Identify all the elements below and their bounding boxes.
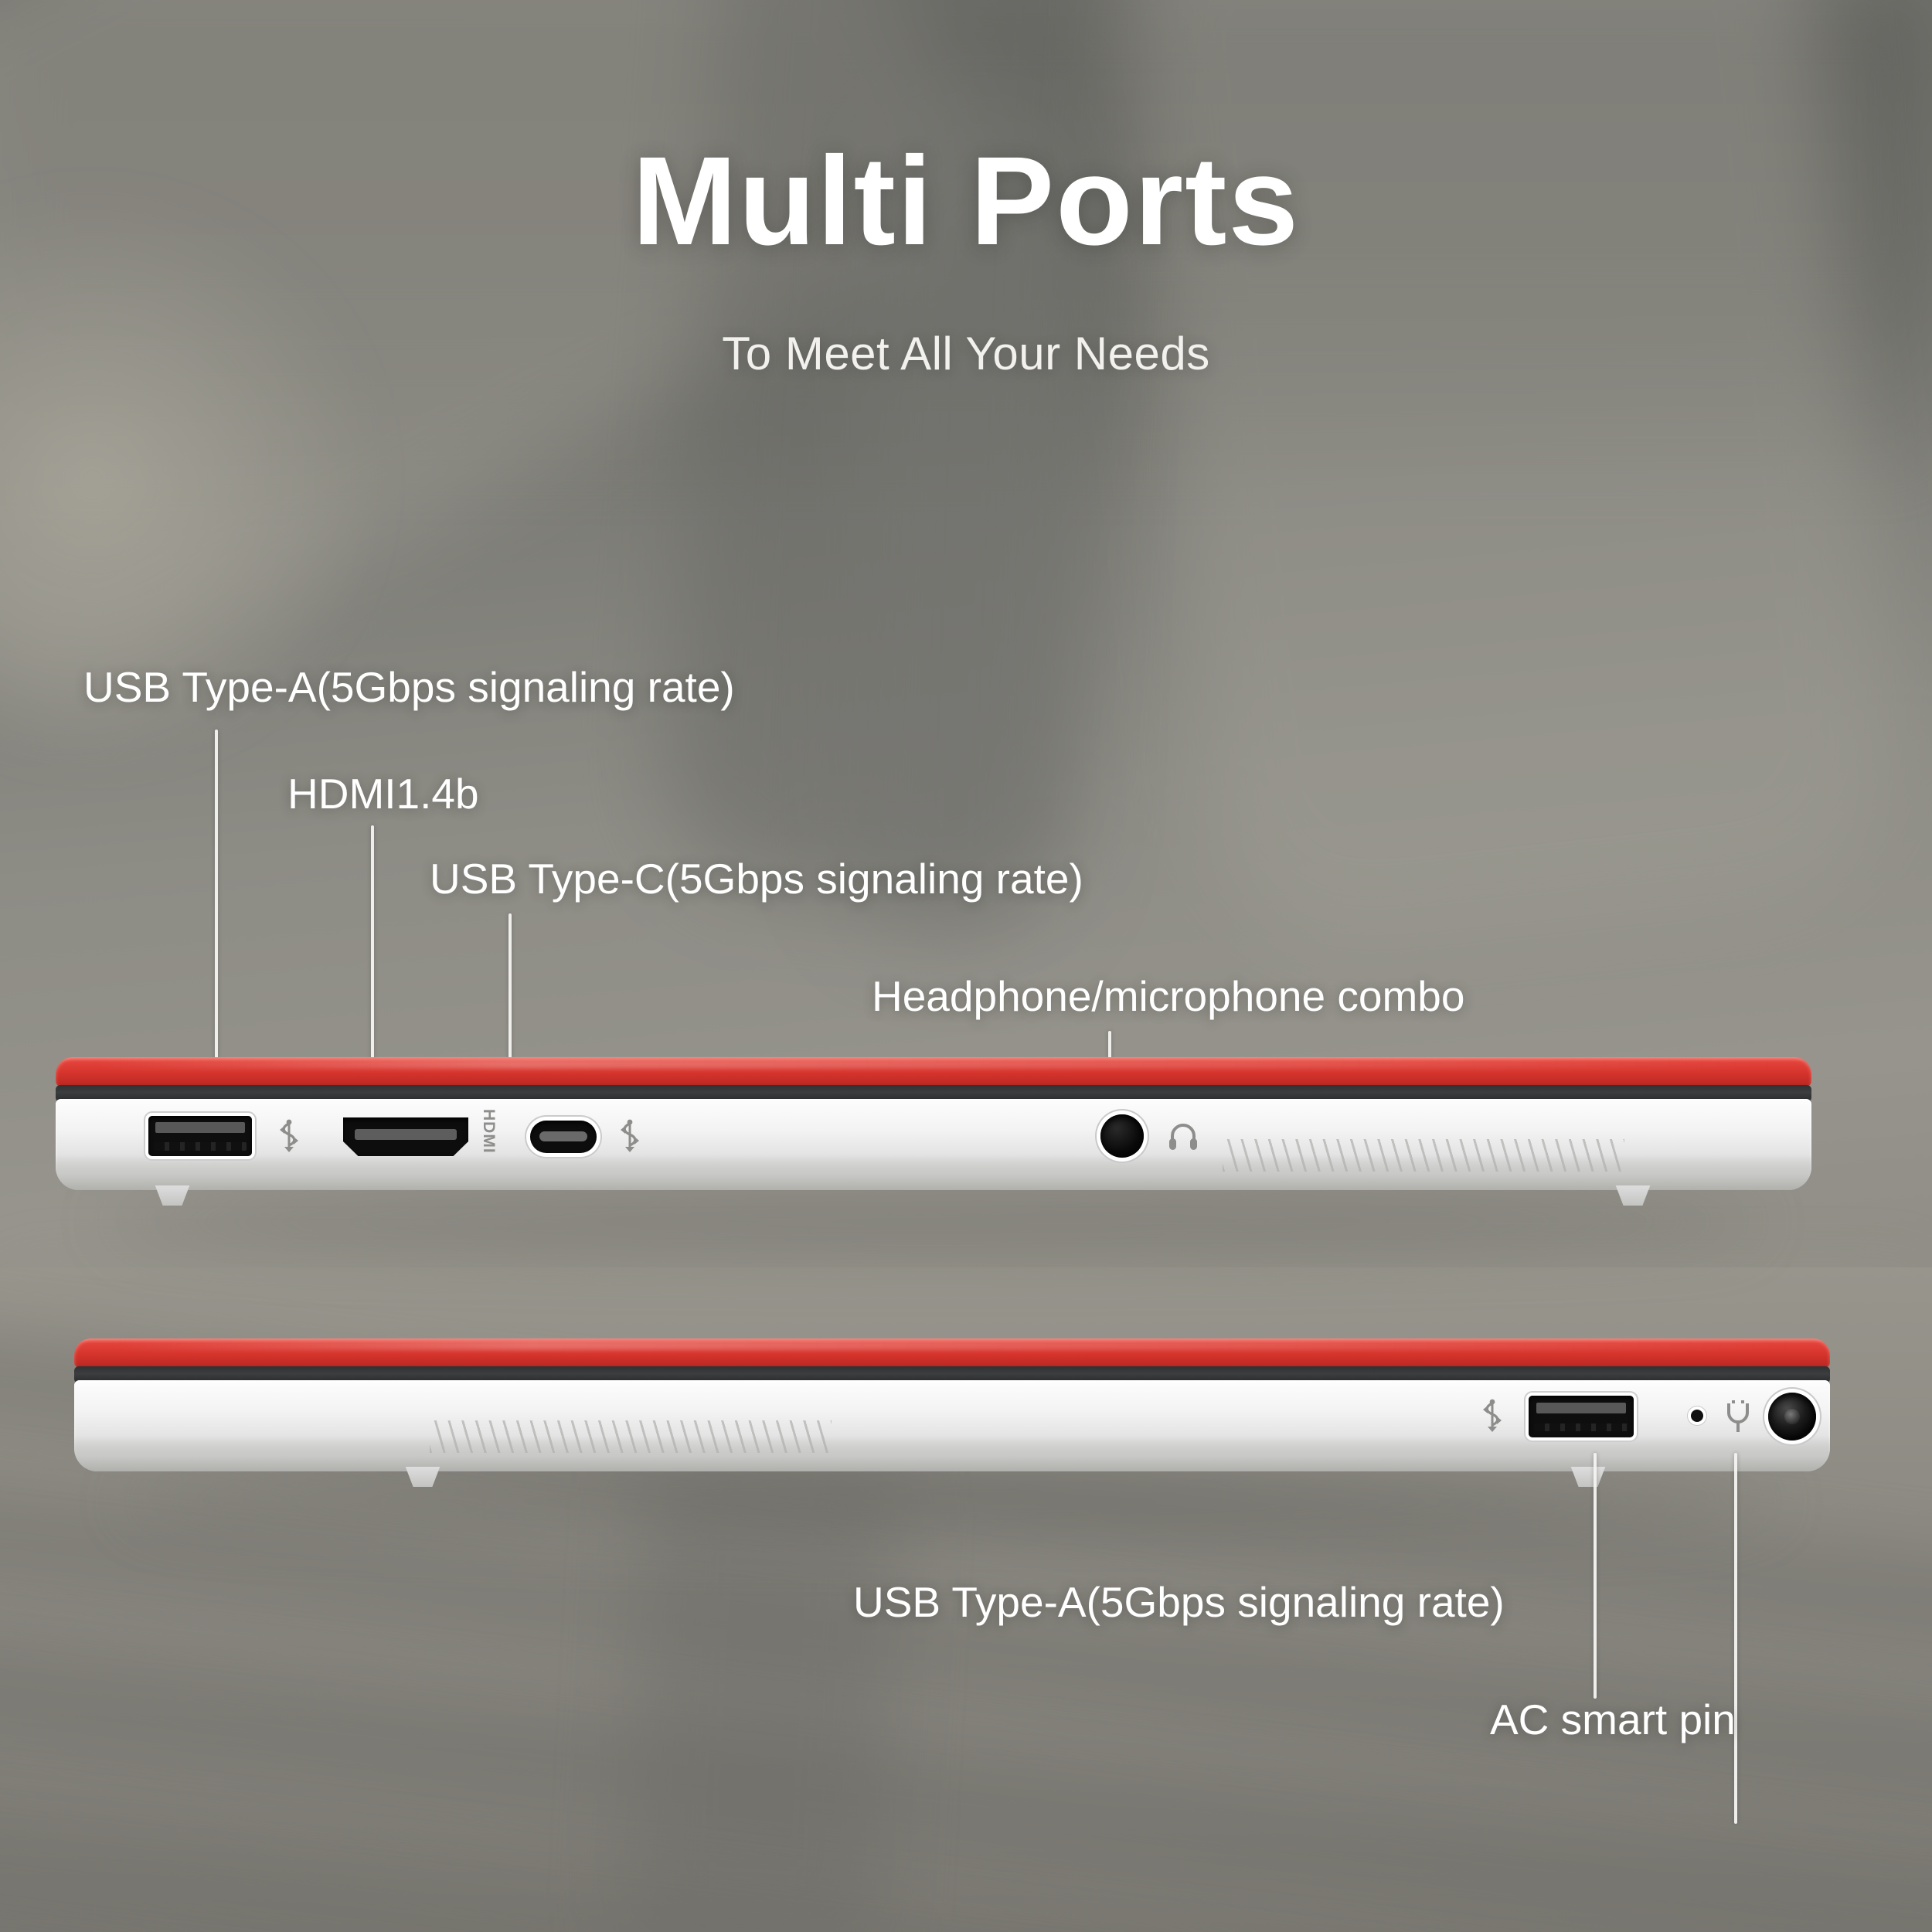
hdmi-label-text: HDMI xyxy=(479,1109,498,1163)
floor-shadow-column xyxy=(621,1462,901,1932)
superspeed-icon-usb-a-left xyxy=(276,1119,302,1157)
port-ac-smart-pin xyxy=(1768,1393,1816,1440)
superspeed-icon-usb-a-right xyxy=(1479,1399,1505,1437)
laptop-bottom-base xyxy=(74,1380,1830,1471)
usb-a-contacts xyxy=(154,1142,247,1150)
superspeed-icon-usb-c xyxy=(617,1119,643,1157)
usb-c-slot xyxy=(539,1131,587,1141)
callout-label-headphone: Headphone/microphone combo xyxy=(872,975,1464,1018)
hdmi-slot xyxy=(355,1129,457,1140)
laptop-bottom-base-edge xyxy=(74,1436,1830,1471)
callout-label-ac-smart-pin: AC smart pin xyxy=(1490,1699,1736,1741)
callout-label-usb-c: USB Type-C(5Gbps signaling rate) xyxy=(430,858,1083,900)
power-plug-icon xyxy=(1723,1400,1753,1438)
page-subtitle: To Meet All Your Needs xyxy=(0,331,1932,377)
leader-line-usb-a-right xyxy=(1594,1453,1597,1699)
port-usb-c xyxy=(530,1121,597,1153)
callout-label-hdmi: HDMI1.4b xyxy=(287,773,479,815)
laptop-top-unit: HDMI xyxy=(56,1057,1811,1212)
charge-led-indicator xyxy=(1691,1410,1703,1422)
headset-icon xyxy=(1167,1121,1199,1157)
page-title: Multi Ports xyxy=(0,138,1932,264)
laptop-top-base: HDMI xyxy=(56,1099,1811,1190)
laptop-bottom-lid xyxy=(74,1338,1830,1368)
laptop-top-lid xyxy=(56,1057,1811,1087)
usb-a-tongue-right xyxy=(1536,1403,1627,1413)
leader-line-ac-smart-pin xyxy=(1734,1453,1737,1824)
laptop-bottom-unit xyxy=(74,1338,1830,1493)
usb-a-contacts-right xyxy=(1534,1423,1628,1432)
port-hdmi xyxy=(343,1117,468,1156)
port-headphone-jack xyxy=(1100,1114,1144,1158)
port-usb-a-right xyxy=(1529,1396,1634,1437)
lid-sheen-bottom xyxy=(109,1341,1794,1350)
laptop-bottom-vents xyxy=(430,1420,832,1453)
lid-sheen xyxy=(90,1060,1776,1069)
callout-label-usb-a-right: USB Type-A(5Gbps signaling rate) xyxy=(853,1581,1505,1624)
port-usb-a-left xyxy=(148,1116,252,1156)
callout-label-usb-a-left: USB Type-A(5Gbps signaling rate) xyxy=(83,666,735,709)
usb-a-tongue xyxy=(155,1122,244,1133)
laptop-top-drop-shadow xyxy=(102,1195,1764,1249)
laptop-top-vents xyxy=(1223,1139,1624,1172)
laptop-bottom-drop-shadow xyxy=(121,1475,1782,1529)
product-feature-image: Multi Ports To Meet All Your Needs USB T… xyxy=(0,0,1932,1932)
